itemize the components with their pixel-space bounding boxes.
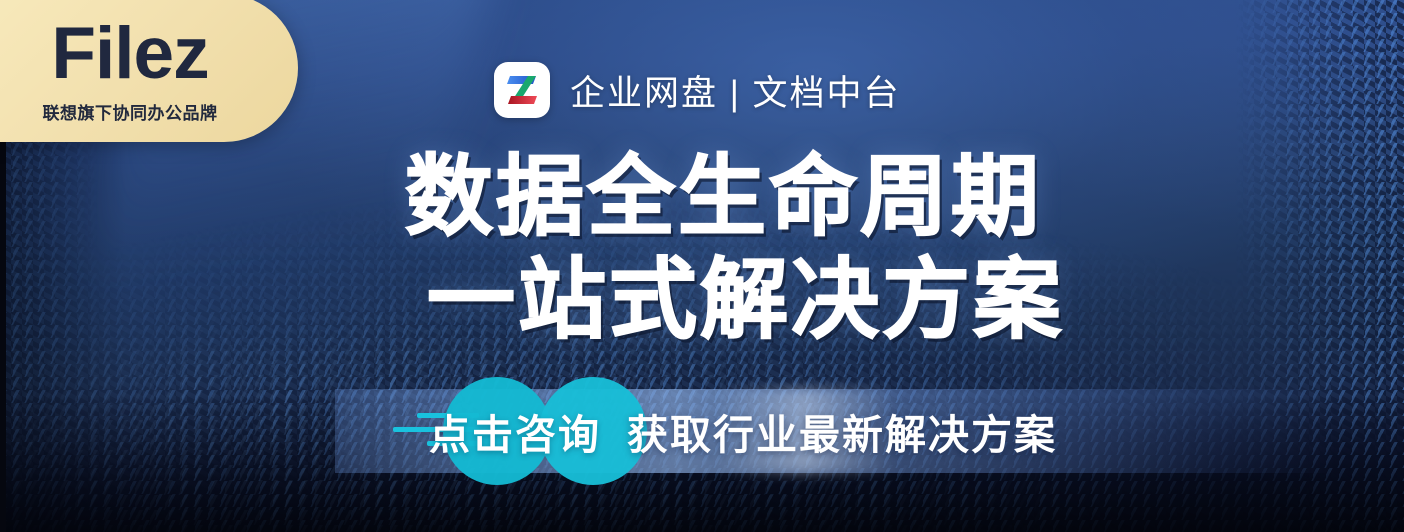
brand-badge: Filez 联想旗下协同办公品牌 [0,0,298,142]
filez-z-logo-icon [494,62,550,118]
marketing-banner: Filez 联想旗下协同办公品牌 [0,0,1404,532]
cta-secondary-label: 获取行业最新解决方案 [627,389,1057,473]
headline-line-1: 数据全生命周期 [405,146,1065,249]
headline-line-2: 一站式解决方案 [405,249,1065,352]
brand-tagline: 联想旗下协同办公品牌 [43,99,218,124]
cta-bar[interactable]: 点击咨询 获取行业最新解决方案 [335,389,1335,473]
headline: 数据全生命周期 一站式解决方案 [405,146,1065,352]
left-edge-rail [0,140,6,532]
brand-wordmark: Filez [51,18,208,90]
product-title: 企业网盘 | 文档中台 [570,65,901,116]
product-line: 企业网盘 | 文档中台 [494,62,901,118]
cta-primary-label[interactable]: 点击咨询 [429,389,601,473]
